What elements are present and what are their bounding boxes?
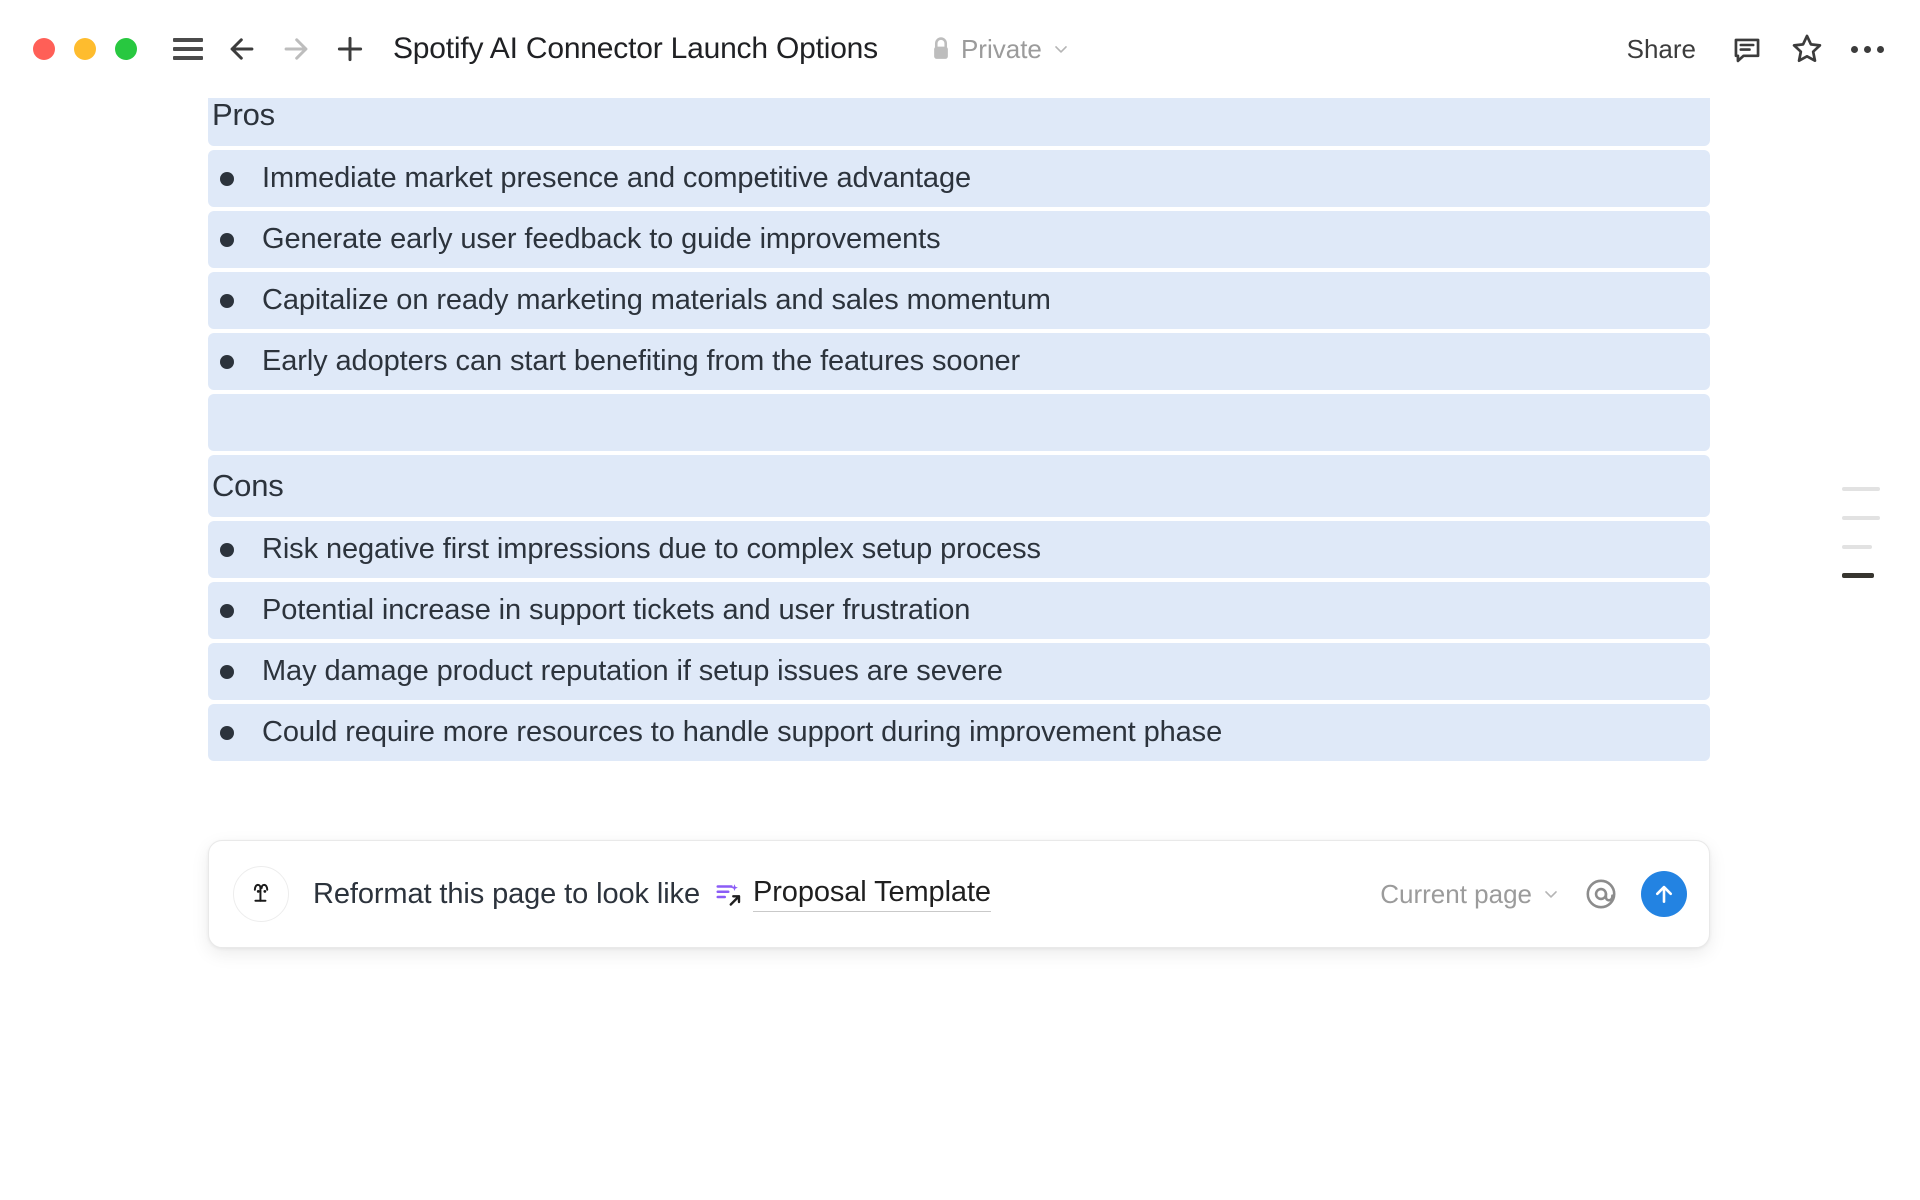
bullet-icon xyxy=(220,543,234,557)
bullet-text: Immediate market presence and competitiv… xyxy=(262,161,971,196)
page-outline-minimap[interactable] xyxy=(1842,474,1898,590)
ai-prompt-actions: Current page xyxy=(1380,871,1687,917)
more-options-button[interactable] xyxy=(1844,26,1890,72)
arrow-right-icon xyxy=(279,32,313,66)
comments-button[interactable] xyxy=(1724,26,1770,72)
minimap-line xyxy=(1842,487,1880,491)
page-mention[interactable]: Proposal Template xyxy=(714,876,991,912)
bulleted-list-item[interactable]: Risk negative first impressions due to c… xyxy=(208,521,1710,578)
scope-selector[interactable]: Current page xyxy=(1380,879,1561,910)
minimize-window-button[interactable] xyxy=(74,38,96,60)
bullet-icon xyxy=(220,604,234,618)
bullet-icon xyxy=(220,233,234,247)
block-list: Pros Immediate market presence and compe… xyxy=(208,98,1710,765)
bulleted-list-item[interactable]: Capitalize on ready marketing materials … xyxy=(208,272,1710,329)
bulleted-list-item[interactable]: May damage product reputation if setup i… xyxy=(208,643,1710,700)
minimap-row[interactable] xyxy=(1842,474,1898,503)
minimap-row[interactable] xyxy=(1842,532,1898,561)
heading-block-pros[interactable]: Pros xyxy=(208,98,1710,146)
navigation-group: Spotify AI Connector Launch Options Priv… xyxy=(165,26,1077,72)
comment-icon xyxy=(1730,32,1764,66)
chevron-down-icon xyxy=(1051,39,1071,59)
minimap-line xyxy=(1842,545,1872,549)
minimap-row-active[interactable] xyxy=(1842,561,1898,590)
bulleted-list-item[interactable]: Immediate market presence and competitiv… xyxy=(208,150,1710,207)
window-controls xyxy=(33,38,137,60)
forward-button[interactable] xyxy=(273,26,319,72)
page-title[interactable]: Spotify AI Connector Launch Options xyxy=(393,32,878,66)
lock-icon xyxy=(930,36,952,62)
bullet-icon xyxy=(220,665,234,679)
bulleted-list-item[interactable]: Generate early user feedback to guide im… xyxy=(208,211,1710,268)
sidebar-toggle-button[interactable] xyxy=(165,26,211,72)
ellipsis-icon xyxy=(1851,46,1884,53)
privacy-label: Private xyxy=(961,34,1042,65)
empty-block[interactable] xyxy=(208,394,1710,451)
bullet-text: Capitalize on ready marketing materials … xyxy=(262,283,1051,318)
back-button[interactable] xyxy=(219,26,265,72)
bulleted-list-item[interactable]: Potential increase in support tickets an… xyxy=(208,582,1710,639)
bullet-text: Early adopters can start benefiting from… xyxy=(262,344,1020,379)
ai-prompt-bar[interactable]: Reformat this page to look like Proposal… xyxy=(208,840,1710,948)
bullet-icon xyxy=(220,726,234,740)
star-icon xyxy=(1789,31,1825,67)
bullet-text: Could require more resources to handle s… xyxy=(262,715,1222,750)
bullet-icon xyxy=(220,294,234,308)
bullet-text: Potential increase in support tickets an… xyxy=(262,593,970,628)
close-window-button[interactable] xyxy=(33,38,55,60)
notion-window: Spotify AI Connector Launch Options Priv… xyxy=(0,0,1920,1200)
share-button[interactable]: Share xyxy=(1613,26,1710,73)
hamburger-icon xyxy=(173,38,203,60)
bullet-text: May damage product reputation if setup i… xyxy=(262,654,1003,689)
mention-label: Proposal Template xyxy=(753,876,991,912)
scope-label: Current page xyxy=(1380,879,1532,910)
ai-prompt-value: Reformat this page to look like xyxy=(313,878,700,911)
send-prompt-button[interactable] xyxy=(1641,871,1687,917)
page-content: Pros Immediate market presence and compe… xyxy=(0,98,1920,1200)
ai-prompt-input[interactable]: Reformat this page to look like Proposal… xyxy=(313,876,1380,912)
favorite-button[interactable] xyxy=(1784,26,1830,72)
new-page-button[interactable] xyxy=(327,26,373,72)
bulleted-list-item[interactable]: Early adopters can start benefiting from… xyxy=(208,333,1710,390)
at-mention-icon[interactable] xyxy=(1583,876,1619,912)
template-sparkle-icon xyxy=(714,879,744,909)
heading-text: Pros xyxy=(212,99,275,132)
titlebar-actions: Share xyxy=(1613,26,1890,73)
title-bar: Spotify AI Connector Launch Options Priv… xyxy=(0,0,1920,98)
bulleted-list-item[interactable]: Could require more resources to handle s… xyxy=(208,704,1710,761)
heading-block-cons[interactable]: Cons xyxy=(208,455,1710,517)
notion-ai-face-icon xyxy=(233,866,289,922)
maximize-window-button[interactable] xyxy=(115,38,137,60)
minimap-line xyxy=(1842,516,1880,520)
minimap-line xyxy=(1842,573,1874,578)
minimap-row[interactable] xyxy=(1842,503,1898,532)
bullet-icon xyxy=(220,172,234,186)
privacy-selector[interactable]: Private xyxy=(924,30,1077,69)
chevron-down-icon xyxy=(1541,884,1561,904)
arrow-up-icon xyxy=(1651,881,1677,907)
heading-text: Cons xyxy=(212,470,284,503)
bullet-icon xyxy=(220,355,234,369)
bullet-text: Risk negative first impressions due to c… xyxy=(262,532,1041,567)
plus-icon xyxy=(333,32,367,66)
bullet-text: Generate early user feedback to guide im… xyxy=(262,222,940,257)
arrow-left-icon xyxy=(225,32,259,66)
